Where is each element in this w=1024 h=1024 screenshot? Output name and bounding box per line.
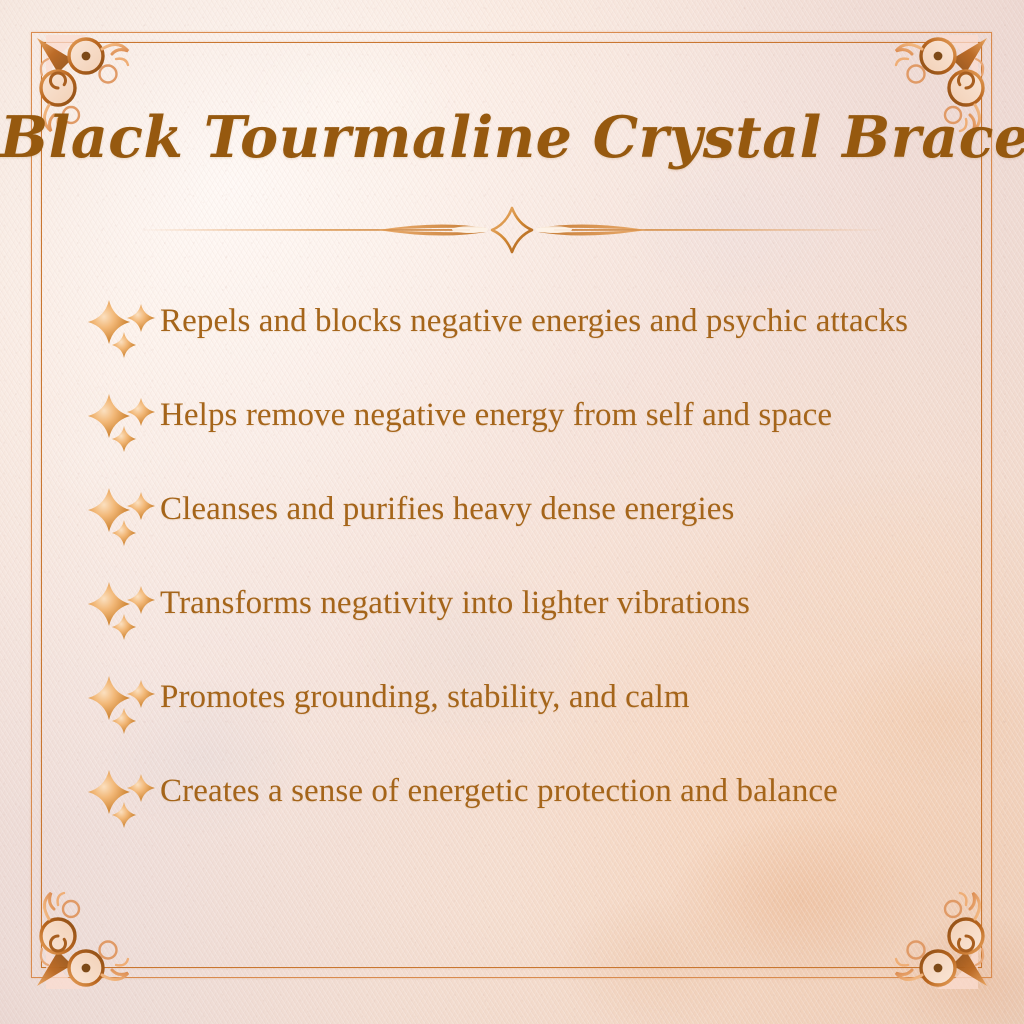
list-item: Cleanses and purifies heavy dense energi…: [86, 484, 976, 548]
list-item-label: Repels and blocks negative energies and …: [160, 296, 976, 344]
list-item: Repels and blocks negative energies and …: [86, 296, 976, 360]
crystal-bracelet-info-card: Black Tourmaline Crystal Bracelet: [0, 0, 1024, 1024]
list-item: Promotes grounding, stability, and calm: [86, 672, 976, 736]
list-item-label: Helps remove negative energy from self a…: [160, 390, 976, 438]
sparkle-cluster-icon: [86, 392, 160, 454]
diamond-flourish-divider: [140, 205, 884, 255]
list-item-label: Transforms negativity into lighter vibra…: [160, 578, 976, 626]
list-item-label: Cleanses and purifies heavy dense energi…: [160, 484, 976, 532]
list-item: Transforms negativity into lighter vibra…: [86, 578, 976, 642]
benefits-list: Repels and blocks negative energies and …: [86, 296, 976, 830]
list-item: Helps remove negative energy from self a…: [86, 390, 976, 454]
corner-flourish-ornament-bottom-left: [28, 877, 146, 995]
list-item-label: Promotes grounding, stability, and calm: [160, 672, 976, 720]
list-item-label: Creates a sense of energetic protection …: [160, 766, 976, 814]
corner-flourish-ornament-bottom-right: [878, 877, 996, 995]
sparkle-cluster-icon: [86, 674, 160, 736]
page-title: Black Tourmaline Crystal Bracelet: [0, 104, 1024, 171]
list-item: Creates a sense of energetic protection …: [86, 766, 976, 830]
sparkle-cluster-icon: [86, 768, 160, 830]
sparkle-cluster-icon: [86, 298, 160, 360]
sparkle-cluster-icon: [86, 580, 160, 642]
sparkle-cluster-icon: [86, 486, 160, 548]
